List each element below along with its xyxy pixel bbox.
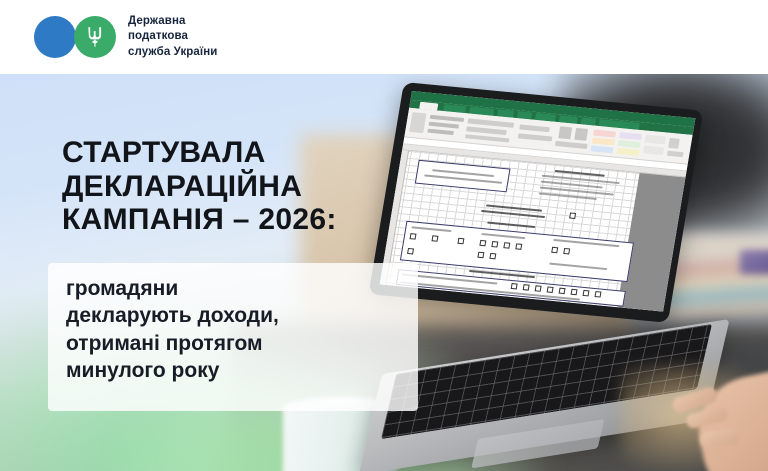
blue-circle-icon [34,16,76,58]
agency-name-text: Державна податкова служба України [128,14,217,60]
site-header: Державна податкова служба України [0,0,768,74]
subtitle-text: громадяни декларують доходи, отримані пр… [66,275,406,384]
trident-icon [87,26,104,48]
page-title: СТАРТУВАЛА ДЕКЛАРАЦІЙНА КАМПАНІЯ – 2026: [62,136,337,237]
agency-logo: Державна податкова служба України [34,14,217,60]
form-section-1-title [487,222,535,229]
green-circle-icon [74,16,116,58]
form-header-left [415,160,511,193]
logo-marks [34,16,116,58]
form-header-right [538,169,623,206]
excel-sheet-grid [380,150,686,311]
form-title-checkbox [569,212,576,218]
laptop-screen [380,91,696,312]
